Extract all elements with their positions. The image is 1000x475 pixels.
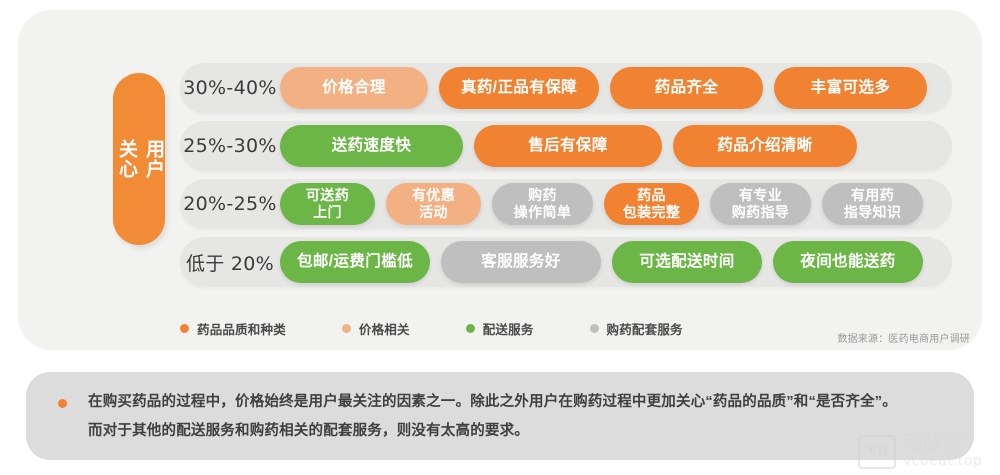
factor-pill[interactable]: 有优惠 活动: [386, 183, 481, 225]
bullet-dot-icon: [58, 399, 67, 408]
row-percentage-label: 20%-25%: [180, 193, 280, 215]
data-source-label: 数据来源：医药电商用户调研: [837, 330, 970, 345]
factor-pill[interactable]: 夜间也能送药: [773, 241, 923, 283]
legend-item: 价格相关: [342, 319, 410, 338]
summary-note-line-2: 而对于其他的配送服务和购药相关的配套服务，则没有太高的要求。: [88, 417, 948, 446]
factor-pill[interactable]: 真药/正品有保障: [439, 67, 599, 109]
row-pill-group: 包邮/运费门槛低客服服务好可选配送时间夜间也能送药: [280, 237, 952, 287]
legend-label: 配送服务: [483, 319, 534, 338]
factor-pill[interactable]: 可选配送时间: [612, 241, 762, 283]
legend-dot-icon: [342, 324, 351, 333]
side-label-pill: 用户 关心: [113, 73, 165, 245]
factor-pill[interactable]: 客服服务好: [441, 241, 601, 283]
watermark-en-text: vcbeat.top: [903, 454, 982, 469]
factor-pill[interactable]: 有用药 指导知识: [822, 183, 923, 225]
row-pill-group: 送药速度快售后有保障药品介绍清晰: [280, 121, 952, 171]
summary-note-text: 在购买药品的过程中，价格始终是用户最关注的因素之一。除此之外用户在购药过程中更加…: [88, 388, 948, 446]
category-row: 25%-30%送药速度快售后有保障药品介绍清晰: [180, 121, 952, 171]
row-percentage-label: 25%-30%: [180, 135, 280, 157]
legend-item: 药品品质和种类: [180, 319, 286, 338]
legend-dot-icon: [466, 324, 475, 333]
legend-dot-icon: [590, 324, 599, 333]
factor-pill[interactable]: 包邮/运费门槛低: [280, 241, 430, 283]
factor-pill[interactable]: 售后有保障: [474, 125, 662, 167]
factor-pill[interactable]: 价格合理: [280, 67, 428, 109]
category-rows: 30%-40%价格合理真药/正品有保障药品齐全丰富可选多25%-30%送药速度快…: [180, 63, 952, 287]
category-row: 低于 20%包邮/运费门槛低客服服务好可选配送时间夜间也能送药: [180, 237, 952, 287]
row-pill-group: 价格合理真药/正品有保障药品齐全丰富可选多: [280, 63, 952, 113]
summary-note-line-1: 在购买药品的过程中，价格始终是用户最关注的因素之一。除此之外用户在购药过程中更加…: [88, 388, 948, 417]
factor-pill[interactable]: 药品齐全: [610, 67, 763, 109]
legend-item: 购药配套服务: [590, 319, 683, 338]
factor-pill[interactable]: 可送药 上门: [280, 183, 375, 225]
factor-pill[interactable]: 送药速度快: [280, 125, 463, 167]
row-percentage-label: 低于 20%: [180, 249, 280, 276]
watermark-cn-text: 动脉网: [903, 434, 982, 454]
factor-pill[interactable]: 购药 操作简单: [492, 183, 593, 225]
side-label-text: 用户 关心: [112, 139, 166, 179]
watermark-badge-icon: VB: [858, 435, 896, 469]
factor-pill[interactable]: 药品介绍清晰: [673, 125, 857, 167]
row-pill-group: 可送药 上门有优惠 活动购药 操作简单药品 包装完整有专业 购药指导有用药 指导…: [280, 179, 952, 229]
watermark: VB 动脉网 vcbeat.top: [858, 434, 982, 469]
factor-pill[interactable]: 药品 包装完整: [604, 183, 699, 225]
legend: 药品品质和种类价格相关配送服务购药配套服务: [180, 319, 729, 338]
category-row: 30%-40%价格合理真药/正品有保障药品齐全丰富可选多: [180, 63, 952, 113]
legend-label: 购药配套服务: [607, 319, 683, 338]
category-row: 20%-25%可送药 上门有优惠 活动购药 操作简单药品 包装完整有专业 购药指…: [180, 179, 952, 229]
legend-label: 价格相关: [359, 319, 410, 338]
factor-pill[interactable]: 有专业 购药指导: [710, 183, 811, 225]
row-percentage-label: 30%-40%: [180, 77, 280, 99]
legend-label: 药品品质和种类: [197, 319, 286, 338]
legend-dot-icon: [180, 324, 189, 333]
factor-pill[interactable]: 丰富可选多: [774, 67, 927, 109]
legend-item: 配送服务: [466, 319, 534, 338]
